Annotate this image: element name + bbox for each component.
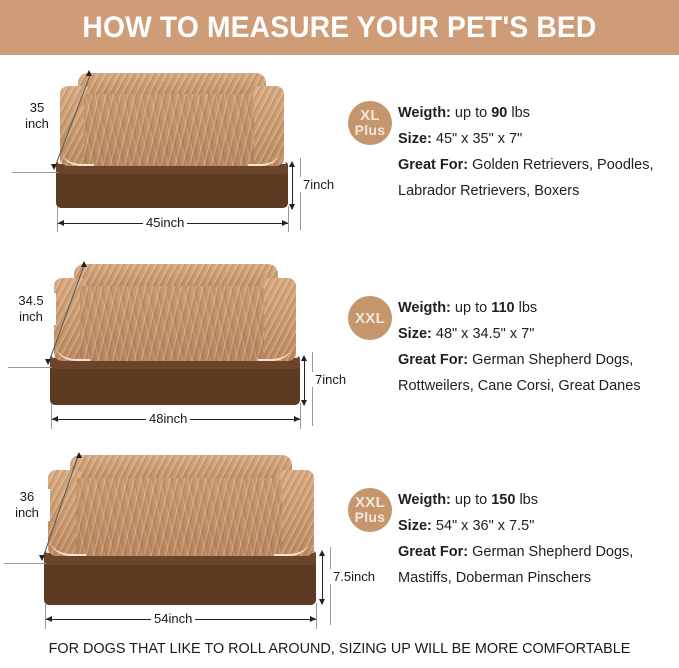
dim-arrow-height-top	[301, 355, 307, 361]
spec-block-xxl: Weigth: up to 110 lbs Size: 48" x 34.5" …	[398, 295, 673, 399]
dim-arrow-width-left	[58, 220, 64, 226]
bed-illustration-xxl-plus: 36 inch 7.5inch 54inch	[0, 447, 340, 637]
dim-ext-height	[300, 158, 301, 230]
bed-sleeping-surface	[80, 286, 264, 361]
dim-depth-unit: inch	[17, 116, 57, 132]
spec-weight-unit: lbs	[519, 300, 538, 316]
size-badge-line1: XXL	[355, 495, 385, 510]
dim-ext-height	[330, 547, 331, 625]
dim-arrow-width-right	[294, 416, 300, 422]
size-section-xxl-plus: 36 inch 7.5inch 54inch XXL Plus Weigth: …	[0, 447, 679, 637]
page-title: HOW TO MEASURE YOUR PET'S BED	[82, 11, 596, 45]
spec-block-xl-plus: Weigth: up to 90 lbs Size: 45" x 35" x 7…	[398, 100, 673, 204]
spec-size-value: 48" x 34.5" x 7"	[436, 326, 534, 342]
spec-weight-line: Weigth: up to 90 lbs	[398, 100, 673, 126]
dim-arrow-depth-top	[81, 261, 87, 267]
spec-weight-unit: lbs	[519, 492, 538, 508]
spec-weight-prefix: up to	[455, 492, 487, 508]
size-section-xxl: 34.5 inch 7inch 48inch XXL Weigth: up to…	[0, 255, 679, 445]
spec-size-value: 54" x 36" x 7.5"	[436, 518, 534, 534]
spec-weight-unit: lbs	[511, 105, 530, 121]
dim-arrow-height-top	[319, 550, 325, 556]
dim-ext-depth	[12, 172, 58, 173]
size-badge-line1: XL	[360, 108, 380, 123]
dim-label-depth: 35 inch	[14, 100, 60, 132]
dim-arrow-height-top	[289, 161, 295, 167]
dim-arrow-width-left	[46, 616, 52, 622]
dim-arrow-width-right	[310, 616, 316, 622]
size-badge-xxl: XXL	[348, 296, 392, 340]
bed-sleeping-surface	[76, 478, 282, 556]
dim-depth-value: 35	[17, 100, 57, 116]
dim-depth-value: 34.5	[9, 293, 53, 309]
dim-arrow-height-bottom	[301, 400, 307, 406]
page-header-banner: HOW TO MEASURE YOUR PET'S BED	[0, 0, 679, 55]
spec-block-xxl-plus: Weigth: up to 150 lbs Size: 54" x 36" x …	[398, 487, 673, 591]
spec-weight-prefix: up to	[455, 300, 487, 316]
dim-line-height	[322, 552, 323, 604]
size-section-xl-plus: 35 inch 7inch 45inch XL Plus Weigth: up …	[0, 62, 679, 252]
spec-size-label: Size:	[398, 131, 432, 147]
dim-label-height: 7inch	[312, 372, 349, 387]
spec-weight-label: Weigth:	[398, 105, 451, 121]
dim-arrow-depth-top	[86, 70, 92, 76]
size-badge-line2: Plus	[355, 123, 386, 138]
dim-ext-width-right	[288, 206, 289, 232]
dim-depth-unit: inch	[9, 309, 53, 325]
bed-illustration-xl-plus: 35 inch 7inch 45inch	[0, 62, 340, 252]
dim-label-depth: 36 inch	[4, 489, 50, 521]
spec-size-line: Size: 54" x 36" x 7.5"	[398, 513, 673, 539]
spec-size-line: Size: 45" x 35" x 7"	[398, 126, 673, 152]
spec-great-for-label: Great For:	[398, 352, 468, 368]
dim-arrow-depth-top	[76, 452, 82, 458]
dim-arrow-width-left	[52, 416, 58, 422]
dim-label-width: 48inch	[146, 411, 190, 426]
spec-weight-value: 90	[491, 105, 507, 121]
spec-size-label: Size:	[398, 326, 432, 342]
spec-weight-label: Weigth:	[398, 492, 451, 508]
dim-arrow-depth-bottom	[45, 359, 51, 365]
dim-depth-value: 36	[7, 489, 47, 505]
spec-weight-prefix: up to	[455, 105, 487, 121]
spec-great-for-line: Great For: Golden Retrievers, Poodles, L…	[398, 152, 673, 204]
spec-weight-label: Weigth:	[398, 300, 451, 316]
dim-arrow-depth-bottom	[39, 555, 45, 561]
dim-ext-depth	[4, 563, 46, 564]
spec-weight-line: Weigth: up to 150 lbs	[398, 487, 673, 513]
dim-line-height	[304, 357, 305, 405]
size-badge-line2: Plus	[355, 510, 386, 525]
spec-great-for-line: Great For: German Shepherd Dogs, Mastiff…	[398, 539, 673, 591]
size-badge-xl-plus: XL Plus	[348, 101, 392, 145]
dim-arrow-depth-bottom	[51, 164, 57, 170]
dim-label-depth: 34.5 inch	[6, 293, 56, 325]
bed-sleeping-surface	[84, 94, 254, 166]
bed-illustration-xxl: 34.5 inch 7inch 48inch	[0, 255, 340, 445]
spec-great-for-line: Great For: German Shepherd Dogs, Rottwei…	[398, 347, 673, 399]
dim-arrow-width-right	[282, 220, 288, 226]
size-badge-line1: XXL	[355, 311, 385, 326]
spec-weight-line: Weigth: up to 110 lbs	[398, 295, 673, 321]
spec-size-value: 45" x 35" x 7"	[436, 131, 522, 147]
spec-size-label: Size:	[398, 518, 432, 534]
dim-arrow-height-bottom	[289, 204, 295, 210]
spec-size-line: Size: 48" x 34.5" x 7"	[398, 321, 673, 347]
dim-depth-unit: inch	[7, 505, 47, 521]
dim-label-width: 45inch	[143, 215, 187, 230]
dim-label-height: 7inch	[300, 177, 337, 192]
spec-great-for-label: Great For:	[398, 157, 468, 173]
dim-ext-width-right	[300, 403, 301, 429]
dim-label-height: 7.5inch	[330, 569, 378, 584]
dim-label-width: 54inch	[151, 611, 195, 626]
size-badge-xxl-plus: XXL Plus	[348, 488, 392, 532]
dim-ext-width-left	[57, 206, 58, 232]
dim-ext-depth	[8, 367, 52, 368]
spec-weight-value: 110	[491, 300, 514, 316]
dim-line-height	[292, 163, 293, 209]
spec-weight-value: 150	[491, 492, 515, 508]
footer-note: FOR DOGS THAT LIKE TO ROLL AROUND, SIZIN…	[14, 640, 666, 657]
spec-great-for-label: Great For:	[398, 544, 468, 560]
dim-ext-height	[312, 352, 313, 426]
dim-arrow-height-bottom	[319, 599, 325, 605]
dim-ext-width-right	[316, 603, 317, 629]
